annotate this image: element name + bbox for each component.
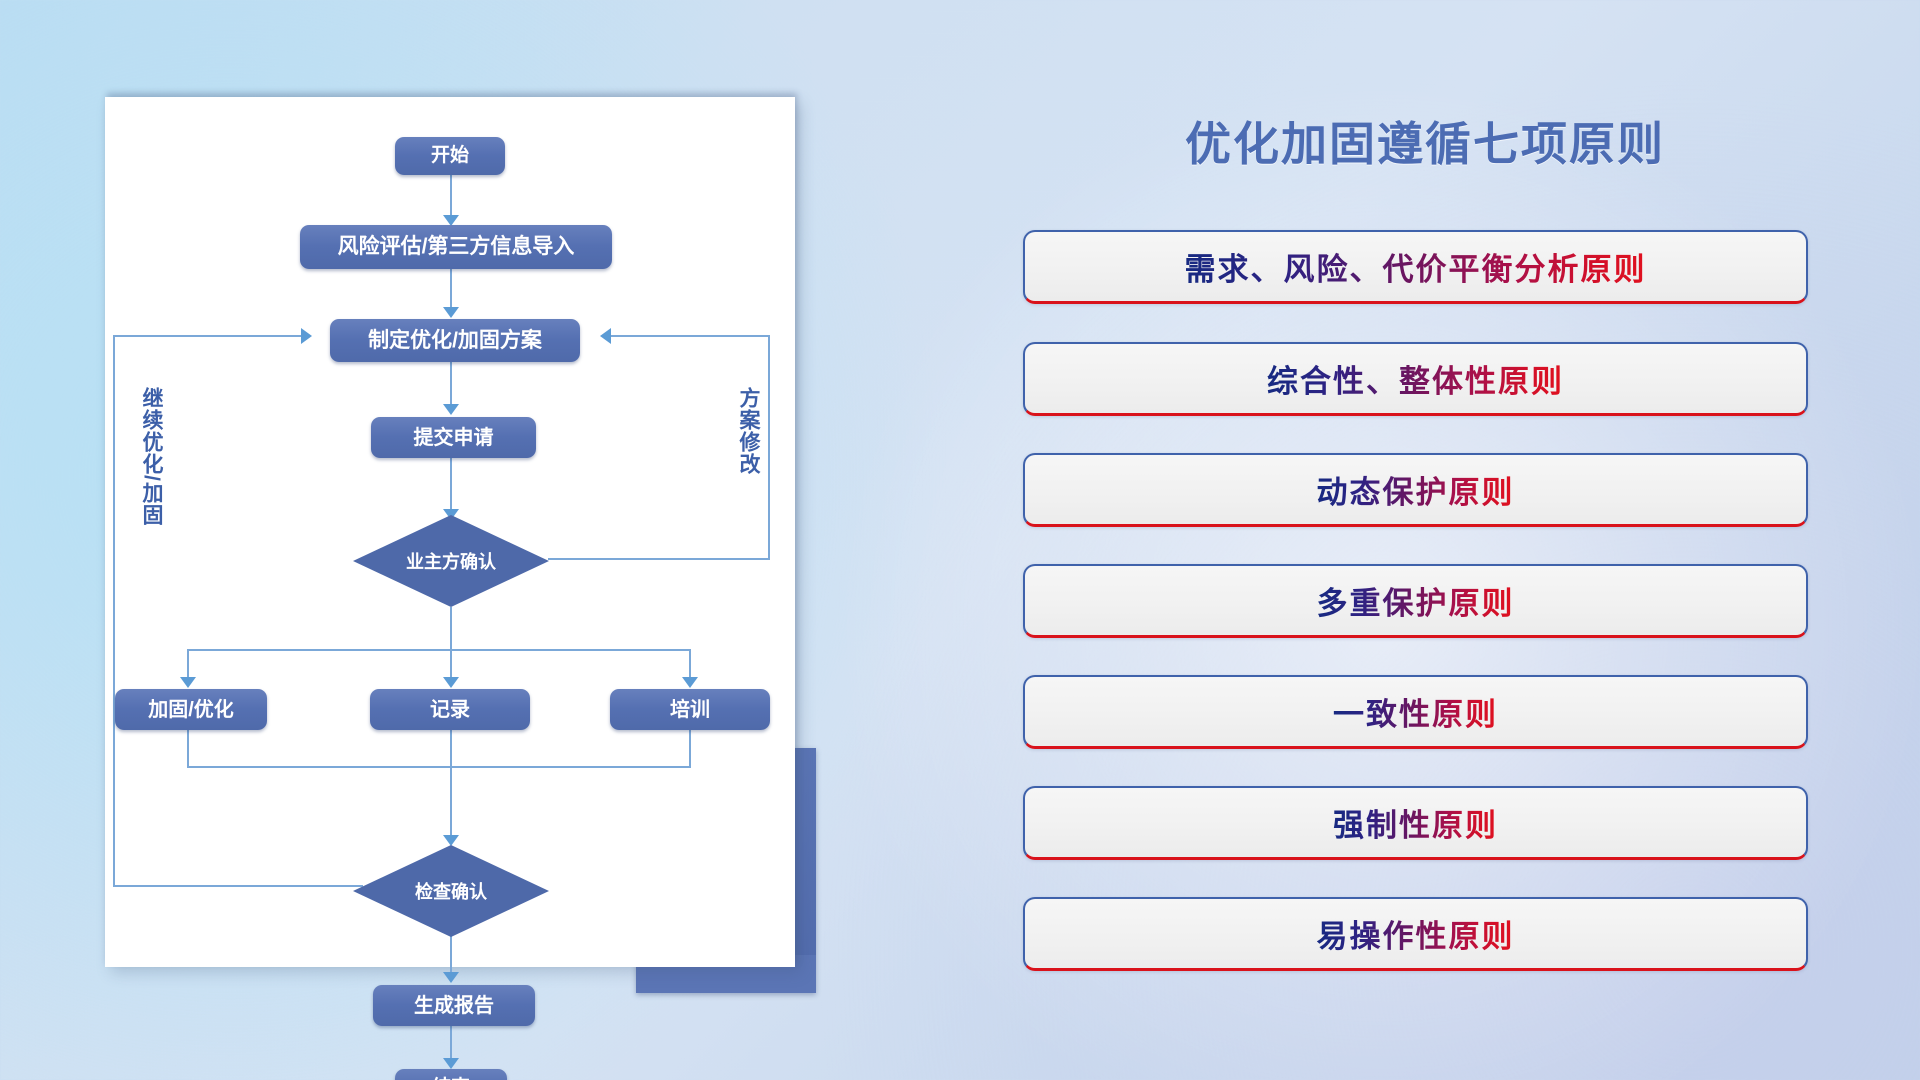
- node-make-plan[interactable]: 制定优化/加固方案: [330, 319, 580, 362]
- flowchart-region: 开始 风险评估/第三方信息导入 制定优化/加固方案 提交申请 业主方确认 加固/…: [0, 0, 900, 1080]
- arrowhead-checkcfm-report: [443, 972, 459, 983]
- connector-rightloop-top: [611, 335, 770, 337]
- connector-merge-left: [187, 730, 189, 768]
- node-owner-confirm[interactable]: 业主方确认: [353, 515, 549, 607]
- node-owner-confirm-label: 业主方确认: [406, 548, 496, 574]
- node-make-plan-label: 制定优化/加固方案: [368, 329, 542, 352]
- principle-item-2-label: 综合性、整体性原则: [1267, 356, 1564, 401]
- arrowhead-plan-submit: [443, 404, 459, 415]
- edge-label-left-loop: 继续优化/加固: [140, 387, 162, 526]
- node-submit-application-label: 提交申请: [414, 427, 494, 449]
- node-check-confirm[interactable]: 检查确认: [353, 845, 549, 937]
- node-training[interactable]: 培训: [610, 689, 770, 730]
- principle-item-7-label: 易操作性原则: [1317, 911, 1515, 956]
- principle-item-3[interactable]: 动态保护原则: [1023, 453, 1808, 527]
- connector-rightloop-vertical: [768, 335, 770, 560]
- connector-merge-mid-down: [450, 730, 452, 840]
- connector-report-end: [450, 1026, 452, 1062]
- connector-leftloop-bottom: [113, 885, 363, 887]
- arrowhead-risk-plan: [443, 307, 459, 318]
- arrowhead-report-end: [443, 1058, 459, 1069]
- node-record-label: 记录: [430, 699, 470, 721]
- arrowhead-leftloop-plan: [301, 328, 312, 344]
- connector-checkcfm-report: [450, 936, 452, 976]
- arrowhead-branch-right: [682, 677, 698, 688]
- principle-item-1-label: 需求、风险、代价平衡分析原则: [1185, 244, 1647, 289]
- principles-panel: 优化加固遵循七项原则 需求、风险、代价平衡分析原则 综合性、整体性原则 动态保护…: [1020, 0, 1920, 1080]
- connector-merge-bus: [187, 766, 691, 768]
- principle-item-1[interactable]: 需求、风险、代价平衡分析原则: [1023, 230, 1808, 304]
- principle-item-4[interactable]: 多重保护原则: [1023, 564, 1808, 638]
- node-start[interactable]: 开始: [395, 137, 505, 175]
- node-submit-application[interactable]: 提交申请: [371, 417, 536, 458]
- arrowhead-branch-left: [180, 677, 196, 688]
- connector-plan-submit: [450, 362, 452, 408]
- arrowhead-rightloop-plan: [600, 328, 611, 344]
- principle-item-2[interactable]: 综合性、整体性原则: [1023, 342, 1808, 416]
- principle-item-5-label: 一致性原则: [1333, 689, 1498, 734]
- principle-item-4-label: 多重保护原则: [1317, 578, 1515, 623]
- arrowhead-merge-checkcfm: [443, 835, 459, 846]
- node-reinforce-optimize[interactable]: 加固/优化: [115, 689, 267, 730]
- flowchart-card: 开始 风险评估/第三方信息导入 制定优化/加固方案 提交申请 业主方确认 加固/…: [105, 97, 795, 967]
- principle-item-7[interactable]: 易操作性原则: [1023, 897, 1808, 971]
- node-reinforce-optimize-label: 加固/优化: [148, 699, 234, 721]
- connector-start-risk: [450, 175, 452, 219]
- node-start-label: 开始: [431, 146, 469, 167]
- connector-leftloop-vertical: [113, 335, 115, 887]
- connector-submit-ownercfm: [450, 458, 452, 513]
- node-training-label: 培训: [670, 699, 710, 721]
- node-check-confirm-label: 检查确认: [415, 878, 487, 904]
- node-generate-report[interactable]: 生成报告: [373, 985, 535, 1026]
- node-end[interactable]: 结束: [395, 1069, 507, 1080]
- node-risk-assessment[interactable]: 风险评估/第三方信息导入: [300, 225, 612, 269]
- principle-item-3-label: 动态保护原则: [1317, 467, 1515, 512]
- node-generate-report-label: 生成报告: [414, 995, 494, 1017]
- panel-title: 优化加固遵循七项原则: [1020, 108, 1830, 174]
- arrowhead-branch-mid: [443, 677, 459, 688]
- connector-rightloop-bottom: [548, 558, 770, 560]
- principle-item-6[interactable]: 强制性原则: [1023, 786, 1808, 860]
- principle-item-6-label: 强制性原则: [1333, 800, 1498, 845]
- connector-merge-right: [689, 730, 691, 768]
- connector-leftloop-top: [113, 335, 305, 337]
- connector-branch-bus: [187, 649, 691, 651]
- node-risk-assessment-label: 风险评估/第三方信息导入: [338, 235, 575, 258]
- node-record[interactable]: 记录: [370, 689, 530, 730]
- connector-risk-plan: [450, 269, 452, 311]
- principle-item-5[interactable]: 一致性原则: [1023, 675, 1808, 749]
- edge-label-right-loop: 方案修改: [737, 387, 759, 475]
- connector-ownercfm-branch: [450, 607, 452, 651]
